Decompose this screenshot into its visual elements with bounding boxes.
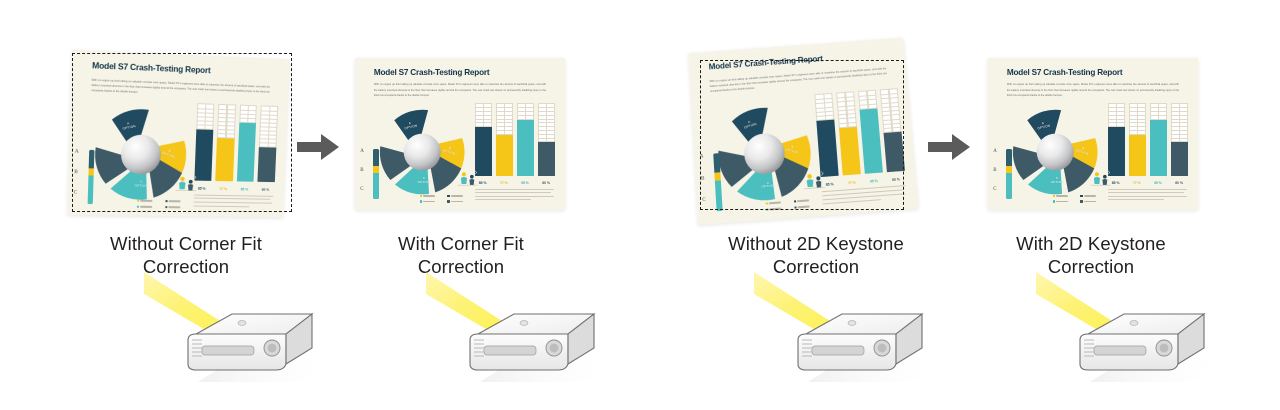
abc-track-segment bbox=[1006, 149, 1011, 166]
matrix-percent: 95 % bbox=[1150, 181, 1166, 185]
matrix-column bbox=[1129, 105, 1145, 176]
matrix-percent: 95 % bbox=[236, 187, 252, 191]
abc-track-segment bbox=[373, 166, 378, 173]
slide-title: Model S7 Crash-Testing Report bbox=[374, 68, 490, 77]
legend-item bbox=[165, 200, 181, 203]
slide-panel-with-2d-keystone: Model S7 Crash-Testing ReportWith no eng… bbox=[988, 58, 1198, 210]
abc-track-segment bbox=[373, 173, 378, 199]
matrix-column bbox=[538, 105, 554, 176]
slide-body-text: With no engine up front taking up valuab… bbox=[1007, 82, 1179, 98]
abc-letter: C bbox=[74, 191, 78, 196]
legend-swatch bbox=[165, 200, 167, 202]
legend-item bbox=[794, 205, 810, 209]
matrix-cell bbox=[525, 103, 534, 109]
panel-caption-without-corner-fit: Without Corner FitCorrection bbox=[70, 232, 302, 278]
abc-track-segment bbox=[1006, 173, 1011, 199]
matrix-column bbox=[517, 105, 533, 176]
legend-label bbox=[1056, 201, 1068, 203]
legend-swatch bbox=[420, 195, 422, 197]
legend-label bbox=[769, 202, 781, 204]
legend-item bbox=[1053, 200, 1068, 202]
projector-2 bbox=[432, 278, 642, 410]
legend-swatch bbox=[1053, 200, 1055, 202]
caption-line-1: Without 2D Keystone bbox=[700, 232, 932, 255]
footer-rule bbox=[1108, 192, 1185, 193]
matrix-column bbox=[1150, 105, 1166, 176]
bar-matrix: 85 %77 %95 %60 % bbox=[1108, 105, 1188, 184]
matrix-percent: 95 % bbox=[517, 181, 533, 185]
abc-letter: A bbox=[75, 149, 79, 154]
legend-label bbox=[797, 200, 809, 202]
abc-letter: B bbox=[74, 170, 78, 175]
abc-letter: C bbox=[993, 187, 996, 192]
legend-swatch bbox=[420, 200, 422, 202]
footer-rules bbox=[193, 194, 274, 209]
slide-title: Model S7 Crash-Testing Report bbox=[92, 61, 211, 75]
legend-label bbox=[140, 200, 152, 202]
abc-letter: C bbox=[702, 198, 706, 203]
matrix-column bbox=[496, 105, 512, 176]
legend-swatch bbox=[794, 206, 797, 209]
legend-item bbox=[794, 199, 810, 203]
abc-letter: A bbox=[360, 149, 364, 154]
abc-letter: C bbox=[360, 187, 363, 192]
matrix-cell bbox=[1158, 103, 1167, 109]
legend-swatch bbox=[137, 200, 140, 202]
footer-rule bbox=[823, 199, 882, 204]
chart-legend bbox=[136, 200, 191, 212]
matrix-cell bbox=[867, 90, 877, 97]
legend-label bbox=[451, 195, 463, 197]
slide-title: Model S7 Crash-Testing Report bbox=[708, 54, 823, 71]
legend-label bbox=[1056, 195, 1068, 197]
legend-swatch bbox=[766, 209, 769, 212]
legend-label bbox=[168, 206, 180, 208]
matrix-cell bbox=[1116, 103, 1125, 109]
matrix-cell bbox=[483, 103, 492, 109]
legend-item bbox=[420, 200, 435, 202]
presentation-slide: Model S7 Crash-Testing ReportWith no eng… bbox=[67, 50, 290, 218]
legend-swatch bbox=[447, 195, 449, 197]
legend-item bbox=[1053, 195, 1068, 197]
chart-legend bbox=[420, 195, 473, 206]
abc-track-segment bbox=[713, 153, 720, 173]
presentation-slide: Model S7 Crash-Testing ReportWith no eng… bbox=[355, 58, 565, 210]
matrix-column bbox=[858, 92, 881, 173]
abc-track-segment bbox=[87, 176, 94, 204]
legend-swatch bbox=[1080, 195, 1082, 197]
matrix-cell bbox=[227, 104, 236, 110]
abc-track bbox=[87, 150, 94, 204]
projector-4 bbox=[1042, 278, 1252, 410]
legend-swatch bbox=[1080, 200, 1082, 202]
footer-rules bbox=[475, 189, 555, 203]
bar-matrix: 85 %77 %95 %60 % bbox=[815, 90, 905, 185]
abc-scale: ABC bbox=[360, 149, 381, 199]
pinwheel-hub-sphere bbox=[404, 134, 441, 171]
abc-track bbox=[713, 153, 722, 211]
caption-line-1: Without Corner Fit bbox=[70, 232, 302, 255]
abc-letter: B bbox=[360, 168, 363, 173]
footer-rule bbox=[475, 199, 531, 200]
footer-rule bbox=[1108, 199, 1164, 200]
abc-track-segment bbox=[88, 150, 94, 169]
pinwheel-hub-sphere bbox=[1037, 134, 1074, 171]
abc-track-segment bbox=[88, 168, 94, 176]
abc-letter: B bbox=[701, 176, 705, 181]
matrix-percent: 77 % bbox=[215, 187, 231, 191]
footer-rule bbox=[475, 196, 554, 197]
abc-scale: ABC bbox=[73, 149, 97, 203]
chart-legend bbox=[765, 198, 821, 214]
legend-label bbox=[769, 208, 781, 210]
arrow-corner-fit bbox=[297, 132, 339, 167]
slide-panel-without-corner-fit: Model S7 Crash-Testing ReportWith no eng… bbox=[70, 53, 291, 219]
slide-body-text: With no engine up front taking up valuab… bbox=[374, 82, 546, 98]
legend-swatch bbox=[165, 206, 167, 208]
legend-label bbox=[140, 206, 152, 208]
caption-line-2: Correction bbox=[70, 255, 302, 278]
abc-letter: A bbox=[700, 155, 704, 160]
legend-item bbox=[1080, 195, 1095, 197]
caption-line-2: Correction bbox=[700, 255, 932, 278]
matrix-column bbox=[237, 107, 256, 182]
presentation-slide: Model S7 Crash-Testing ReportWith no eng… bbox=[689, 38, 919, 225]
legend-label bbox=[451, 201, 463, 203]
abc-track-segment bbox=[715, 181, 722, 211]
matrix-column bbox=[258, 108, 277, 183]
legend-item bbox=[420, 195, 435, 197]
footer-rule bbox=[193, 202, 272, 204]
arrow-2d-keystone bbox=[928, 132, 970, 167]
legend-swatch bbox=[1053, 195, 1055, 197]
legend-item bbox=[447, 200, 462, 202]
matrix-percent: 60 % bbox=[538, 181, 554, 185]
matrix-cell bbox=[845, 91, 855, 98]
illustration-canvas: Model S7 Crash-Testing ReportWith no eng… bbox=[0, 0, 1280, 410]
slide-panel-without-2d-keystone: Model S7 Crash-Testing ReportWith no eng… bbox=[688, 38, 915, 222]
footer-rules bbox=[1108, 189, 1188, 203]
legend-swatch bbox=[137, 206, 140, 208]
matrix-cell bbox=[1137, 103, 1146, 109]
caption-line-2: Correction bbox=[988, 255, 1194, 278]
legend-item bbox=[137, 200, 153, 203]
matrix-cell bbox=[546, 103, 555, 109]
abc-track-segment bbox=[1006, 166, 1011, 173]
legend-label bbox=[1084, 201, 1096, 203]
abc-track bbox=[1006, 149, 1011, 199]
matrix-percent: 77 % bbox=[843, 180, 860, 185]
matrix-column bbox=[215, 107, 234, 182]
matrix-cell bbox=[205, 104, 214, 110]
footer-rule bbox=[193, 205, 249, 207]
slide-body-text: With no engine up front taking up valuab… bbox=[91, 77, 270, 100]
matrix-percent: 60 % bbox=[257, 187, 273, 191]
footer-rule bbox=[1108, 189, 1188, 190]
matrix-cell bbox=[823, 93, 833, 100]
bar-matrix: 85 %77 %95 %60 % bbox=[475, 105, 555, 184]
legend-item bbox=[766, 208, 782, 212]
matrix-column bbox=[880, 91, 904, 172]
matrix-cell bbox=[269, 106, 278, 112]
matrix-cell bbox=[1179, 103, 1188, 109]
matrix-percent: 77 % bbox=[1129, 181, 1145, 185]
panel-caption-with-2d-keystone: With 2D KeystoneCorrection bbox=[988, 232, 1194, 278]
matrix-cell bbox=[248, 105, 257, 111]
matrix-column bbox=[1171, 105, 1187, 176]
projector-1 bbox=[150, 278, 360, 410]
matrix-column bbox=[1108, 105, 1124, 176]
legend-item bbox=[137, 206, 153, 209]
slide-title: Model S7 Crash-Testing Report bbox=[1007, 68, 1123, 77]
footer-rules bbox=[822, 185, 907, 207]
footer-rule bbox=[475, 189, 555, 190]
panel-caption-with-corner-fit: With Corner FitCorrection bbox=[358, 232, 564, 278]
matrix-percent: 60 % bbox=[1171, 181, 1187, 185]
matrix-cell bbox=[888, 88, 898, 95]
legend-item bbox=[165, 206, 181, 209]
footer-rule bbox=[822, 185, 905, 192]
panel-caption-without-2d-keystone: Without 2D KeystoneCorrection bbox=[700, 232, 932, 278]
bar-matrix: 85 %77 %95 %60 % bbox=[194, 106, 278, 191]
legend-label bbox=[798, 206, 810, 208]
abc-track-segment bbox=[373, 149, 378, 166]
legend-item bbox=[765, 201, 781, 205]
matrix-column bbox=[837, 94, 860, 176]
legend-label bbox=[423, 201, 435, 203]
abc-scale: ABC bbox=[993, 149, 1014, 199]
footer-rule bbox=[1108, 196, 1187, 197]
legend-item bbox=[447, 195, 462, 197]
legend-swatch bbox=[794, 200, 797, 203]
caption-line-2: Correction bbox=[358, 255, 564, 278]
legend-item bbox=[1080, 200, 1095, 202]
legend-swatch bbox=[765, 202, 768, 205]
footer-rule bbox=[193, 194, 273, 196]
abc-letter: A bbox=[993, 149, 997, 154]
matrix-percent: 95 % bbox=[865, 178, 882, 183]
abc-scale: ABC bbox=[700, 153, 725, 212]
matrix-column bbox=[194, 106, 213, 182]
legend-swatch bbox=[447, 200, 449, 202]
slide-panel-with-corner-fit: Model S7 Crash-Testing ReportWith no eng… bbox=[355, 58, 565, 210]
footer-rule bbox=[193, 198, 270, 200]
matrix-percent: 60 % bbox=[888, 177, 905, 182]
projector-3 bbox=[760, 278, 970, 410]
abc-track bbox=[373, 149, 378, 199]
matrix-column bbox=[815, 95, 838, 177]
matrix-column bbox=[475, 105, 491, 176]
caption-line-1: With 2D Keystone bbox=[988, 232, 1194, 255]
presentation-slide: Model S7 Crash-Testing ReportWith no eng… bbox=[988, 58, 1198, 210]
legend-label bbox=[168, 201, 180, 203]
legend-label bbox=[423, 195, 435, 197]
legend-label bbox=[1084, 195, 1096, 197]
footer-rule bbox=[475, 192, 552, 193]
matrix-cell bbox=[504, 103, 513, 109]
caption-line-1: With Corner Fit bbox=[358, 232, 564, 255]
matrix-percent: 77 % bbox=[496, 181, 512, 185]
chart-legend bbox=[1053, 195, 1106, 206]
abc-letter: B bbox=[993, 168, 996, 173]
